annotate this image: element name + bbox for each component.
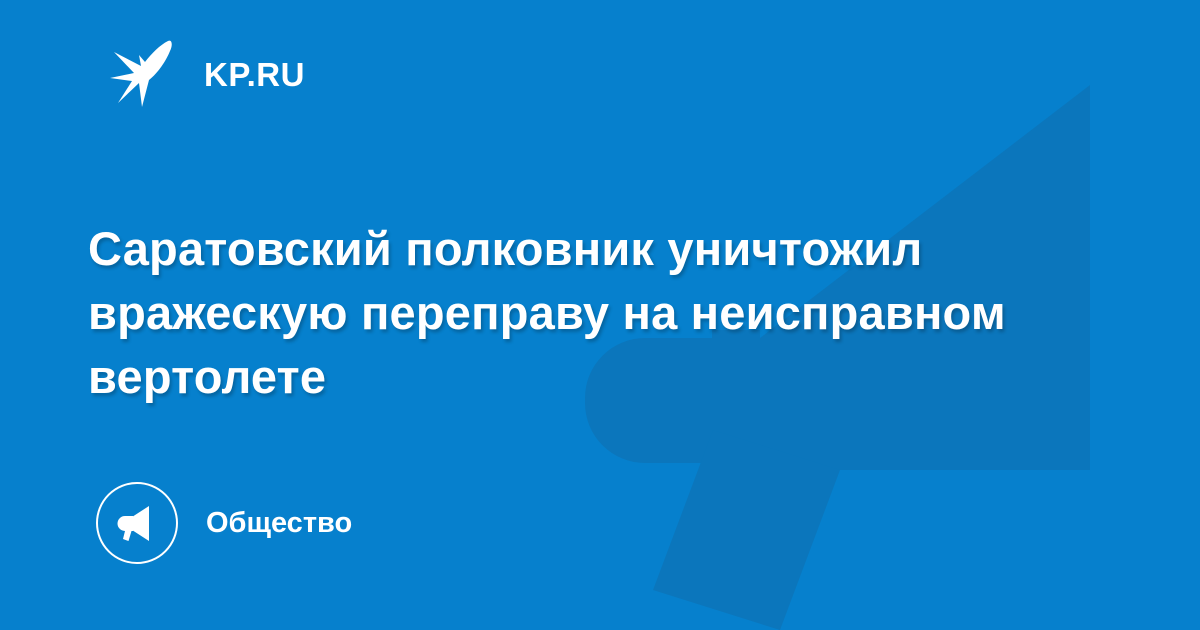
rubric[interactable]: Общество — [96, 482, 352, 564]
megaphone-icon — [115, 503, 159, 543]
brand-name: KP.RU — [204, 58, 305, 91]
swallow-bird-icon — [108, 39, 182, 109]
social-share-card: KP.RU Саратовский полковник уничтожил вр… — [0, 0, 1200, 630]
page-title: Саратовский полковник уничтожил вражеску… — [88, 217, 1088, 409]
rubric-label: Общество — [206, 509, 352, 538]
brand-header[interactable]: KP.RU — [108, 38, 305, 110]
rubric-badge — [96, 482, 178, 564]
